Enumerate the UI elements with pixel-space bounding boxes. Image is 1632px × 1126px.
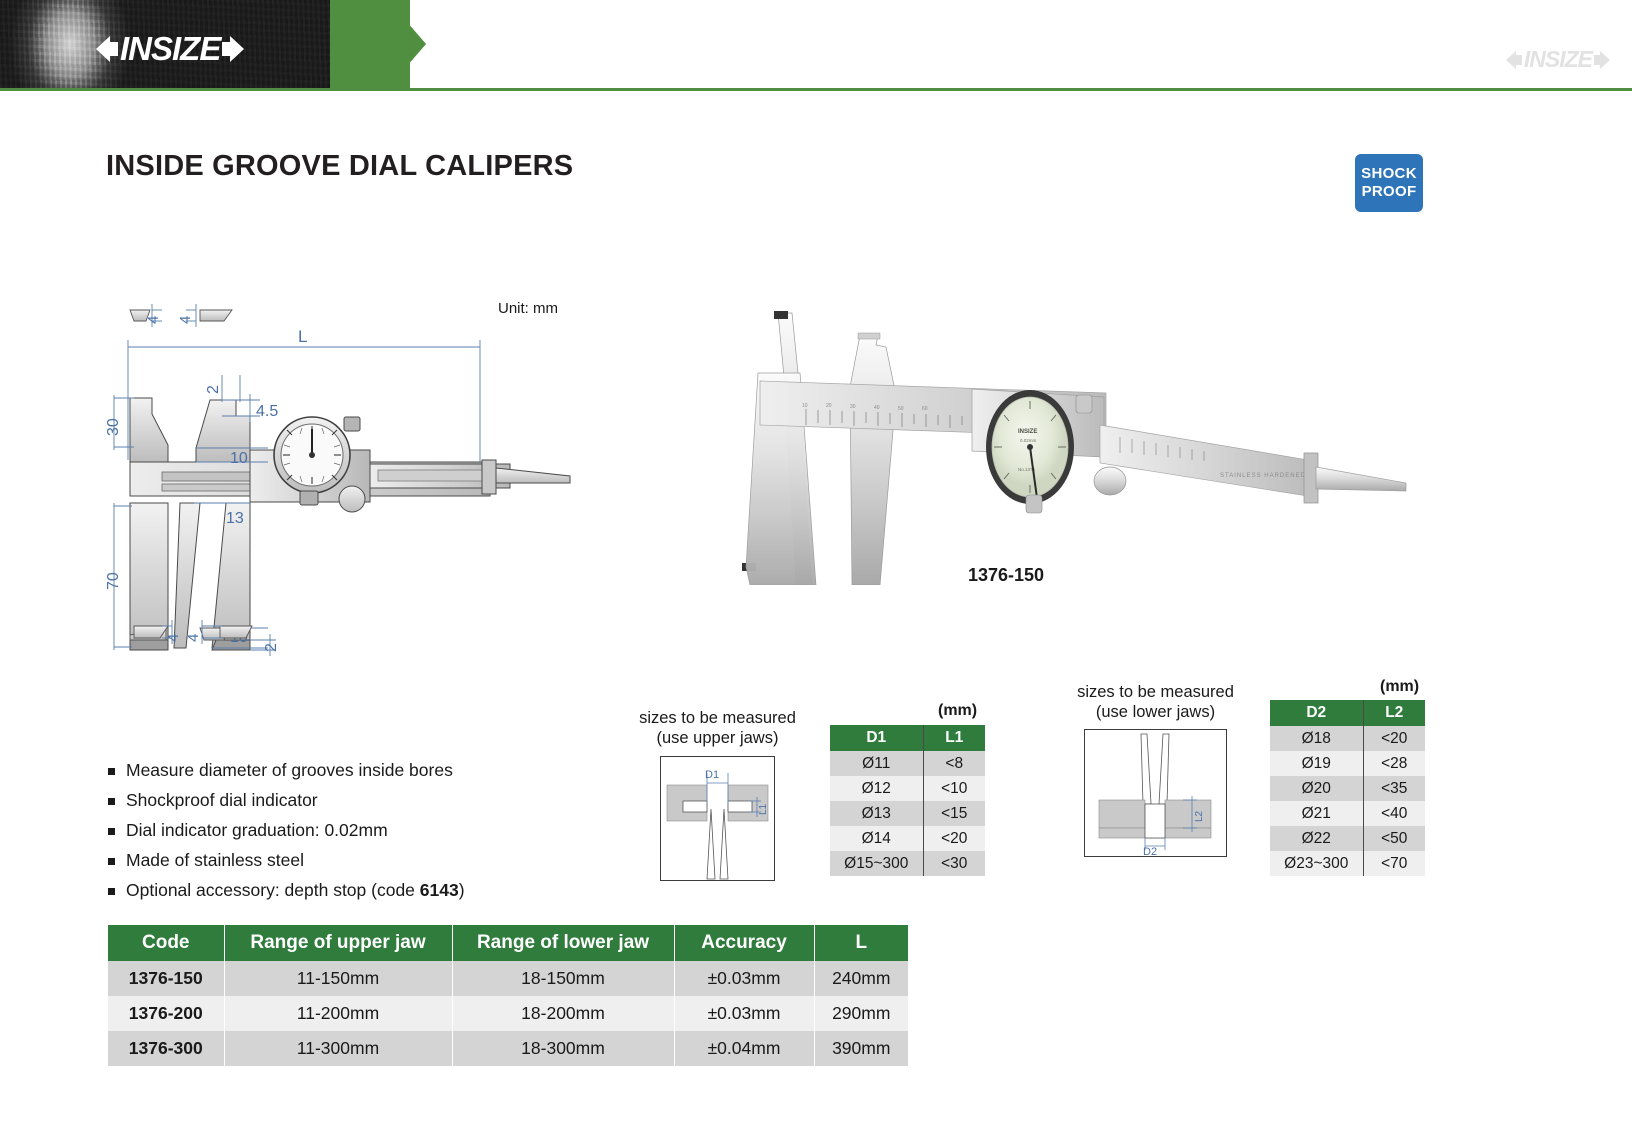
cell-l: 390mm — [814, 1031, 908, 1066]
upper-jaw-illustration: D1 L1 — [660, 756, 775, 881]
cell-code: 1376-300 — [108, 1031, 224, 1066]
features-list: Measure diameter of grooves inside bores… — [108, 760, 628, 910]
bullet-icon — [108, 828, 115, 835]
lower-jaw-table: D2 L2 Ø18 <20 Ø19 <28 Ø20 <35 Ø21 <40 Ø2… — [1270, 700, 1425, 876]
cell-d1: Ø11 — [830, 751, 923, 776]
page-title: INSIDE GROOVE DIAL CALIPERS — [106, 150, 573, 183]
feature-text: Measure diameter of grooves inside bores — [126, 760, 453, 781]
watermark-right-arrow-icon — [1600, 51, 1610, 69]
column-header-accuracy: Accuracy — [674, 925, 814, 961]
column-header-l: L — [814, 925, 908, 961]
feature-text: Optional accessory: depth stop (code 614… — [126, 880, 465, 900]
list-item: Optional accessory: depth stop (code 614… — [108, 880, 628, 901]
dim-4-5: 4.5 — [256, 403, 278, 420]
cell-l1: <15 — [923, 801, 985, 826]
table-row: 1376-200 11-200mm 18-200mm ±0.03mm 290mm — [108, 996, 908, 1031]
table-row: Ø23~300 <70 — [1270, 851, 1425, 876]
table-row: Ø21 <40 — [1270, 801, 1425, 826]
upper-jaw-caption: sizes to be measured (use upper jaws) — [630, 708, 805, 748]
dim-13: 13 — [226, 510, 244, 527]
cell-d2: Ø19 — [1270, 751, 1363, 776]
logo-right-bar-icon — [222, 42, 230, 56]
cell-d1: Ø12 — [830, 776, 923, 801]
upper-jaw-table: D1 L1 Ø11 <8 Ø12 <10 Ø13 <15 Ø14 <20 Ø15… — [830, 725, 985, 876]
insize-watermark-logo: INSIZE — [1506, 48, 1610, 71]
dim-2-top: 2 — [205, 385, 222, 394]
logo-right-arrow-icon — [230, 36, 244, 62]
table-row: Ø19 <28 — [1270, 751, 1425, 776]
cell-upper-jaw: 11-150mm — [224, 961, 452, 996]
watermark-text: INSIZE — [1522, 48, 1594, 71]
watermark-left-arrow-icon — [1506, 51, 1516, 69]
table-header-row: D2 L2 — [1270, 700, 1425, 726]
logo-text: INSIZE — [118, 32, 222, 65]
svg-text:60: 60 — [922, 406, 928, 412]
cell-l2: <28 — [1363, 751, 1425, 776]
table-header-row: D1 L1 — [830, 725, 985, 751]
technical-drawing: 4 4 L — [100, 290, 620, 660]
bullet-icon — [108, 768, 115, 775]
badge-line-2: PROOF — [1362, 183, 1417, 201]
table-row: Ø22 <50 — [1270, 826, 1425, 851]
svg-text:20: 20 — [826, 403, 832, 409]
table-row: Ø11 <8 — [830, 751, 985, 776]
feature-text: Shockproof dial indicator — [126, 790, 318, 811]
lower-jaw-diagram-block: sizes to be measured (use lower jaws) L2… — [1068, 682, 1243, 857]
header-green-shape — [0, 0, 1632, 88]
cell-l1: <30 — [923, 851, 985, 876]
cell-lower-jaw: 18-200mm — [452, 996, 674, 1031]
bullet-icon — [108, 888, 115, 895]
cell-d1: Ø15~300 — [830, 851, 923, 876]
svg-text:40: 40 — [874, 405, 880, 411]
cell-l2: <50 — [1363, 826, 1425, 851]
column-header-lower-jaw: Range of lower jaw — [452, 925, 674, 961]
specification-table: Code Range of upper jaw Range of lower j… — [108, 925, 908, 1066]
dim-bottom-4b: 4 — [185, 634, 202, 642]
lower-jaw-illustration: L2 D2 — [1084, 729, 1227, 857]
thumb-roller — [339, 486, 365, 512]
list-item: Dial indicator graduation: 0.02mm — [108, 820, 628, 841]
header-rule — [0, 88, 1632, 91]
lower-jaw-caption-line2: (use lower jaws) — [1068, 702, 1243, 722]
cell-l2: <20 — [1363, 726, 1425, 751]
insize-logo: INSIZE — [96, 32, 244, 65]
cell-accuracy: ±0.03mm — [674, 996, 814, 1031]
upper-jaw-caption-line1: sizes to be measured — [630, 708, 805, 728]
dim-10-upper: 10 — [230, 450, 248, 467]
cell-l: 240mm — [814, 961, 908, 996]
cell-l1: <10 — [923, 776, 985, 801]
table-row: Ø20 <35 — [1270, 776, 1425, 801]
cell-d2: Ø22 — [1270, 826, 1363, 851]
svg-text:0.02mm: 0.02mm — [1020, 438, 1037, 443]
cell-l1: <20 — [923, 826, 985, 851]
cell-l2: <35 — [1363, 776, 1425, 801]
upper-jaw-unit: (mm) — [938, 702, 977, 720]
svg-text:30: 30 — [850, 404, 856, 410]
label-d2: D2 — [1143, 846, 1157, 856]
column-header-d2: D2 — [1270, 700, 1363, 726]
feature-text: Dial indicator graduation: 0.02mm — [126, 820, 388, 841]
label-d1: D1 — [705, 769, 719, 781]
list-item: Measure diameter of grooves inside bores — [108, 760, 628, 781]
column-header-code: Code — [108, 925, 224, 961]
cell-lower-jaw: 18-300mm — [452, 1031, 674, 1066]
cell-l1: <8 — [923, 751, 985, 776]
product-caption: 1376-150 — [968, 565, 1044, 586]
column-header-l2: L2 — [1363, 700, 1425, 726]
table-row: Ø12 <10 — [830, 776, 985, 801]
drawing-bottom-tip-detail: 4 4 — [128, 618, 388, 654]
list-item: Made of stainless steel — [108, 850, 628, 871]
svg-text:50: 50 — [898, 406, 904, 412]
cell-d2: Ø21 — [1270, 801, 1363, 826]
dim-L: L — [298, 327, 307, 346]
svg-text:10: 10 — [802, 403, 808, 409]
cell-d1: Ø14 — [830, 826, 923, 851]
dim-70: 70 — [105, 572, 122, 590]
svg-text:INSIZE: INSIZE — [1018, 429, 1037, 435]
shock-proof-badge: SHOCK PROOF — [1355, 154, 1423, 212]
column-header-upper-jaw: Range of upper jaw — [224, 925, 452, 961]
cell-accuracy: ±0.04mm — [674, 1031, 814, 1066]
cell-upper-jaw: 11-300mm — [224, 1031, 452, 1066]
green-arrow — [388, 0, 426, 88]
lower-jaw-caption: sizes to be measured (use lower jaws) — [1068, 682, 1243, 722]
table-row: Ø18 <20 — [1270, 726, 1425, 751]
table-row: Ø13 <15 — [830, 801, 985, 826]
table-row: Ø14 <20 — [830, 826, 985, 851]
logo-left-arrow-icon — [96, 36, 110, 62]
label-l2: L2 — [1194, 811, 1205, 823]
lower-jaw-caption-line1: sizes to be measured — [1068, 682, 1243, 702]
cell-code: 1376-200 — [108, 996, 224, 1031]
svg-text:STAINLESS HARDENED: STAINLESS HARDENED — [1220, 473, 1306, 479]
cell-d2: Ø20 — [1270, 776, 1363, 801]
column-header-l1: L1 — [923, 725, 985, 751]
cell-l2: <40 — [1363, 801, 1425, 826]
table-row: Ø15~300 <30 — [830, 851, 985, 876]
dim-30: 30 — [105, 418, 122, 436]
dial-bezel-lock — [344, 417, 360, 431]
column-header-d1: D1 — [830, 725, 923, 751]
feature-text-accessory: Optional accessory: depth stop (code 614… — [126, 880, 465, 901]
dim-top-right-4: 4 — [177, 316, 194, 324]
bullet-icon — [108, 798, 115, 805]
badge-line-1: SHOCK — [1361, 165, 1417, 183]
table-header-row: Code Range of upper jaw Range of lower j… — [108, 925, 908, 961]
list-item: Shockproof dial indicator — [108, 790, 628, 811]
bullet-icon — [108, 858, 115, 865]
dim-bottom-4a: 4 — [165, 634, 182, 642]
cell-accuracy: ±0.03mm — [674, 961, 814, 996]
table-row: 1376-150 11-150mm 18-150mm ±0.03mm 240mm — [108, 961, 908, 996]
cell-upper-jaw: 11-200mm — [224, 996, 452, 1031]
feature-text: Made of stainless steel — [126, 850, 304, 871]
cell-lower-jaw: 18-150mm — [452, 961, 674, 996]
upper-jaw-caption-line2: (use upper jaws) — [630, 728, 805, 748]
cell-l2: <70 — [1363, 851, 1425, 876]
technical-drawing-svg: 4 4 L — [100, 290, 620, 660]
upper-jaw-diagram-block: sizes to be measured (use upper jaws) D1… — [630, 708, 805, 881]
cell-d1: Ø13 — [830, 801, 923, 826]
cell-d2: Ø23~300 — [1270, 851, 1363, 876]
cell-code: 1376-150 — [108, 961, 224, 996]
product-photo: 102030 405060 INSIZE 0.02mm No.1376 STAI… — [700, 285, 1420, 585]
label-l1: L1 — [758, 804, 769, 816]
lower-jaw-unit: (mm) — [1380, 678, 1419, 696]
page-header: INSIZE INSIZE — [0, 0, 1632, 95]
table-row: 1376-300 11-300mm 18-300mm ±0.04mm 390mm — [108, 1031, 908, 1066]
cell-l: 290mm — [814, 996, 908, 1031]
dim-top-left-4: 4 — [145, 316, 162, 324]
logo-left-bar-icon — [110, 42, 118, 56]
cell-d2: Ø18 — [1270, 726, 1363, 751]
